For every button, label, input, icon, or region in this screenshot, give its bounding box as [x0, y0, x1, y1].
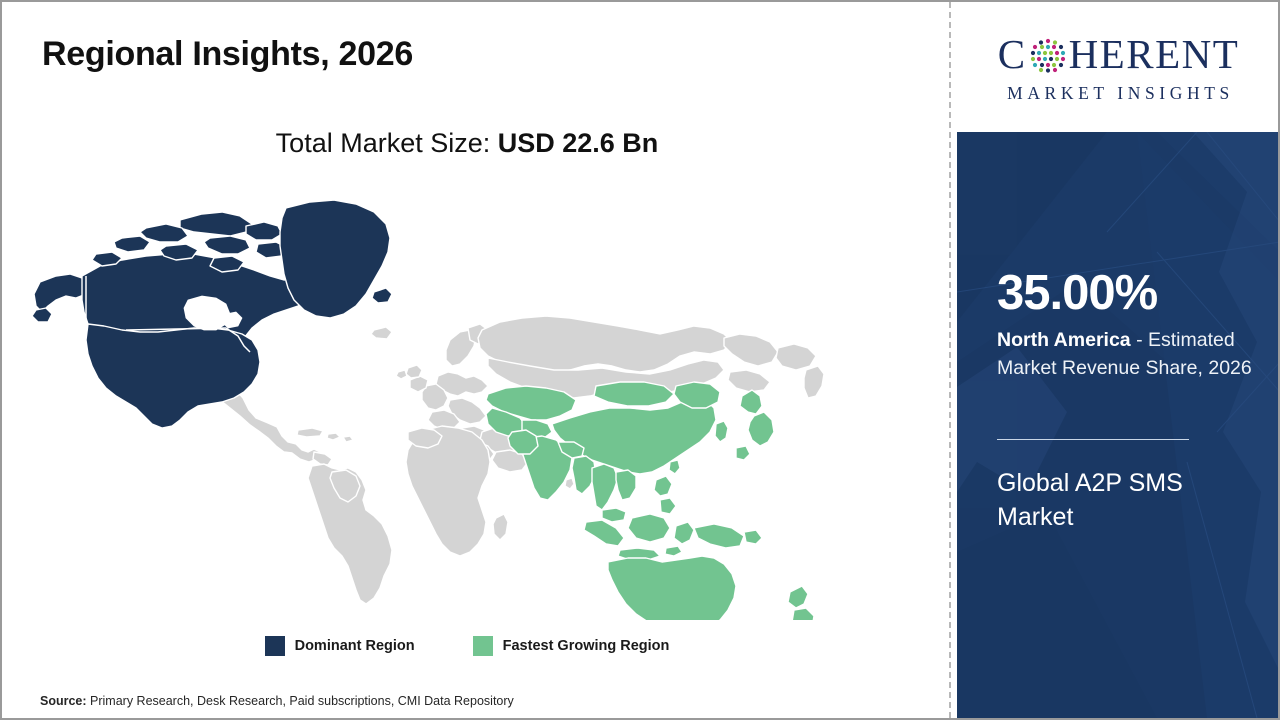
legend-item-fastest-growing-region: Fastest Growing Region	[473, 636, 670, 656]
regional-stat-panel: 35.00% North America - Estimated Market …	[957, 132, 1280, 718]
world-map-svg	[30, 180, 910, 620]
legend-label-fastest-growing: Fastest Growing Region	[503, 638, 670, 654]
revenue-share-percent: 35.00%	[997, 269, 1157, 318]
legend-item-dominant-region: Dominant Region	[265, 636, 415, 656]
total-market-size-label: Total Market Size:	[276, 128, 498, 158]
world-map	[30, 180, 910, 620]
map-legend: Dominant Region Fastest Growing Region	[2, 636, 932, 656]
left-content-panel: Regional Insights, 2026 Total Market Siz…	[2, 2, 948, 718]
map-region-rest-of-world	[202, 316, 824, 604]
source-label: Source:	[40, 694, 87, 708]
brand-header: C	[957, 2, 1280, 132]
legend-swatch-dominant	[265, 636, 285, 656]
infographic-slide: Regional Insights, 2026 Total Market Siz…	[0, 0, 1280, 720]
logo-letter-c: C	[998, 34, 1027, 75]
dotted-globe-icon	[1028, 35, 1068, 75]
market-name: Global A2P SMS Market	[997, 467, 1247, 535]
legend-label-dominant: Dominant Region	[295, 638, 415, 654]
logo-wordmark: C	[969, 32, 1269, 78]
vertical-dashed-divider	[949, 2, 951, 718]
region-name: North America	[997, 329, 1131, 351]
total-market-size: Total Market Size: USD 22.6 Bn	[2, 128, 932, 159]
legend-swatch-fastest-growing	[473, 636, 493, 656]
map-region-asia-pacific	[486, 382, 814, 620]
source-note: Source: Primary Research, Desk Research,…	[40, 694, 514, 708]
page-title: Regional Insights, 2026	[42, 35, 413, 74]
revenue-share-description: North America - Estimated Market Revenue…	[997, 327, 1265, 382]
logo-tagline: MARKET INSIGHTS	[969, 85, 1269, 103]
total-market-size-value: USD 22.6 Bn	[498, 128, 659, 158]
logo-letters-herent: HERENT	[1069, 34, 1240, 75]
source-text: Primary Research, Desk Research, Paid su…	[87, 694, 514, 708]
coherent-market-insights-logo: C	[969, 32, 1269, 103]
stat-panel-content: 35.00% North America - Estimated Market …	[997, 132, 1257, 718]
stat-divider-rule	[997, 439, 1189, 440]
